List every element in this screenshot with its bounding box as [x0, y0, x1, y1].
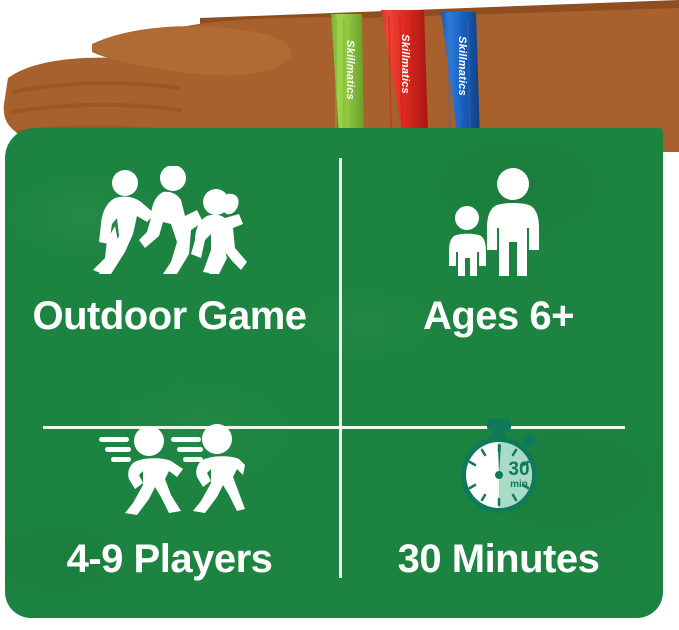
- feature-label-duration: 30 Minutes: [398, 539, 600, 579]
- feature-ages: Ages 6+: [334, 128, 663, 373]
- band-brand-label: Skillmatics: [456, 36, 468, 96]
- feature-label-players: 4-9 Players: [67, 539, 273, 579]
- stopwatch-icon: 30 min: [439, 413, 559, 517]
- feature-label-outdoor-game: Outdoor Game: [32, 296, 306, 336]
- product-infographic: Skillmatics Skillmatics Skillmatics: [0, 0, 679, 630]
- adult-and-child-icon: [439, 166, 559, 276]
- running-children-icon: [85, 166, 255, 276]
- stopwatch-unit: min: [510, 479, 528, 490]
- band-brand-label: Skillmatics: [344, 40, 356, 100]
- two-players-running-icon: [95, 413, 245, 517]
- feature-outdoor-game: Outdoor Game: [5, 128, 334, 373]
- band-brand-label: Skillmatics: [399, 34, 411, 94]
- feature-label-ages: Ages 6+: [423, 296, 574, 336]
- feature-grid: Outdoor Game A: [5, 128, 663, 618]
- feature-duration: 30 min 30 Minutes: [334, 373, 663, 618]
- feature-panel: Outdoor Game A: [5, 128, 663, 618]
- stopwatch-value: 30: [508, 459, 529, 480]
- feature-players: 4-9 Players: [5, 373, 334, 618]
